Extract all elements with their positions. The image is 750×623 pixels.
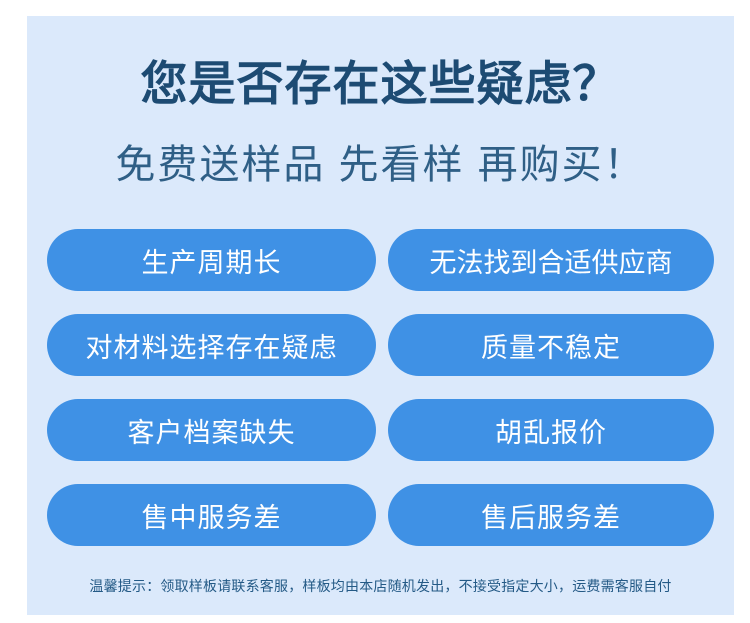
pain-point-pill-8[interactable]: 售后服务差 <box>388 484 714 546</box>
pill-cell: 售后服务差 <box>382 484 720 569</box>
pill-cell: 质量不稳定 <box>382 314 720 399</box>
pill-cell: 胡乱报价 <box>382 399 720 484</box>
pain-point-pill-4[interactable]: 质量不稳定 <box>388 314 714 376</box>
page-subtitle: 免费送样品 先看样 再购买！ <box>27 143 734 187</box>
pain-point-pill-7[interactable]: 售中服务差 <box>47 484 376 546</box>
pill-cell: 生产周期长 <box>41 229 382 314</box>
pain-point-pill-1[interactable]: 生产周期长 <box>47 229 376 291</box>
pain-point-pill-3[interactable]: 对材料选择存在疑虑 <box>47 314 376 376</box>
pill-cell: 无法找到合适供应商 <box>382 229 720 314</box>
pill-cell: 客户档案缺失 <box>41 399 382 484</box>
footer-tip-text: 温馨提示：领取样板请联系客服，样板均由本店随机发出，不接受指定大小，运费需客服自… <box>27 576 734 596</box>
pill-cell: 售中服务差 <box>41 484 382 569</box>
pain-point-pill-2[interactable]: 无法找到合适供应商 <box>388 229 714 291</box>
pain-point-pill-5[interactable]: 客户档案缺失 <box>47 399 376 461</box>
promo-poster: 您是否存在这些疑虑？ 免费送样品 先看样 再购买！ 生产周期长 无法找到合适供应… <box>27 16 734 615</box>
pill-cell: 对材料选择存在疑虑 <box>41 314 382 399</box>
pain-point-pill-6[interactable]: 胡乱报价 <box>388 399 714 461</box>
page-title: 您是否存在这些疑虑？ <box>27 58 734 110</box>
pain-point-grid: 生产周期长 无法找到合适供应商 对材料选择存在疑虑 质量不稳定 客户档案缺失 胡… <box>41 229 720 569</box>
